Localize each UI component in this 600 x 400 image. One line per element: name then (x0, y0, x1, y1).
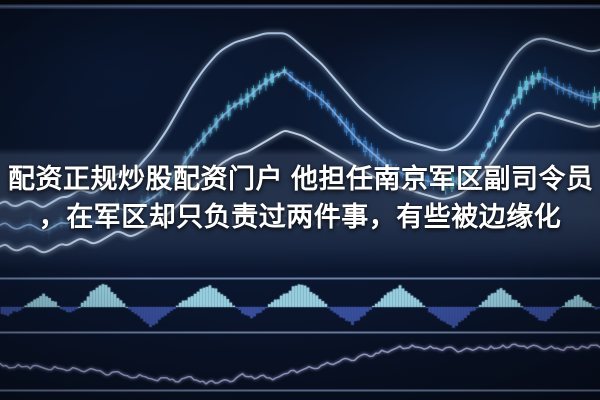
headline: 配资正规炒股配资门户 他担任南京军区副司令员 ，在军区却只负责过两件事，有些被边… (0, 160, 600, 236)
histogram-chart-svg (0, 281, 600, 331)
banner-image: 图虫创意 配资正规炒股配资门户 他担任南京军区副司令员 ，在军区却只负责过两件事… (0, 0, 600, 400)
indicator-line-panel (0, 336, 600, 390)
panel-divider-bottom (0, 389, 600, 392)
indicator-chart-svg (0, 336, 600, 390)
macd-histogram-panel (0, 281, 600, 331)
price-chart-svg (0, 8, 600, 278)
headline-line-2: ，在军区却只负责过两件事，有些被边缘化 (8, 198, 592, 236)
panel-divider-top (0, 277, 600, 280)
price-candlestick-panel (0, 8, 600, 278)
panel-divider-middle (0, 331, 600, 334)
headline-line-1: 配资正规炒股配资门户 他担任南京军区副司令员 (8, 160, 592, 198)
